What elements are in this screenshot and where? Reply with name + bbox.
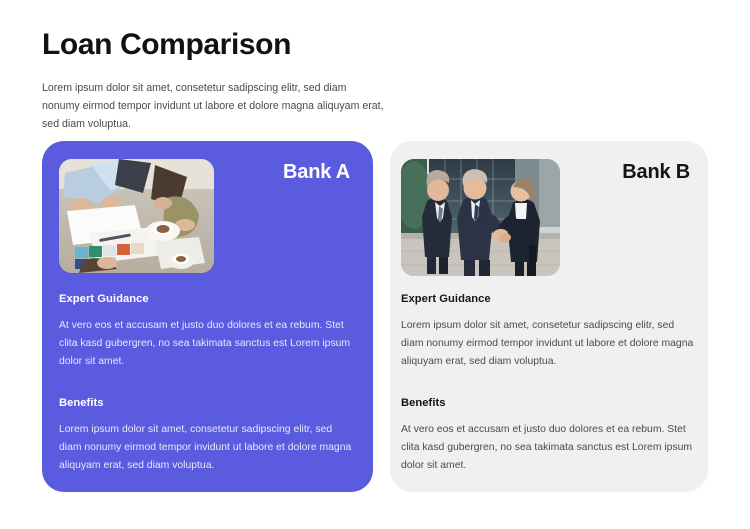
card-a-top: Bank A: [42, 141, 373, 293]
card-a-title: Bank A: [283, 162, 350, 182]
card-b-top: Bank B: [390, 141, 708, 293]
card-b-section-expert-guidance: Expert Guidance Lorem ipsum dolor sit am…: [401, 293, 694, 371]
card-a-section-benefits: Benefits Lorem ipsum dolor sit amet, con…: [59, 397, 356, 475]
card-a-section-heading-2: Benefits: [59, 397, 356, 409]
card-b-title: Bank B: [622, 162, 690, 182]
card-a-body: Expert Guidance At vero eos et accusam e…: [59, 293, 356, 475]
card-a-section-expert-guidance: Expert Guidance At vero eos et accusam e…: [59, 293, 356, 371]
card-b-section-text-2: At vero eos et accusam et justo duo dolo…: [401, 421, 694, 475]
card-bank-b[interactable]: Bank B Expert Guidance Lorem ipsum dolor…: [390, 141, 708, 492]
card-b-section-benefits: Benefits At vero eos et accusam et justo…: [401, 397, 694, 475]
page-title: Loan Comparison: [42, 28, 422, 63]
card-a-section-text-2: Lorem ipsum dolor sit amet, consetetur s…: [59, 421, 356, 475]
page-root: Loan Comparison Lorem ipsum dolor sit am…: [0, 0, 750, 529]
comparison-cards: Bank A Expert Guidance At vero eos et ac…: [42, 141, 708, 492]
card-b-body: Expert Guidance Lorem ipsum dolor sit am…: [401, 293, 694, 475]
card-a-section-heading-1: Expert Guidance: [59, 293, 356, 305]
handshake-photo: [401, 159, 560, 276]
card-b-section-heading-2: Benefits: [401, 397, 694, 409]
card-b-section-heading-1: Expert Guidance: [401, 293, 694, 305]
card-b-section-text-1: Lorem ipsum dolor sit amet, consetetur s…: [401, 317, 694, 371]
card-a-section-text-1: At vero eos et accusam et justo duo dolo…: [59, 317, 356, 371]
intro-paragraph: Lorem ipsum dolor sit amet, consetetur s…: [42, 79, 387, 133]
card-bank-a[interactable]: Bank A Expert Guidance At vero eos et ac…: [42, 141, 373, 492]
page-header: Loan Comparison Lorem ipsum dolor sit am…: [42, 28, 422, 133]
meeting-table-photo: [59, 159, 214, 273]
